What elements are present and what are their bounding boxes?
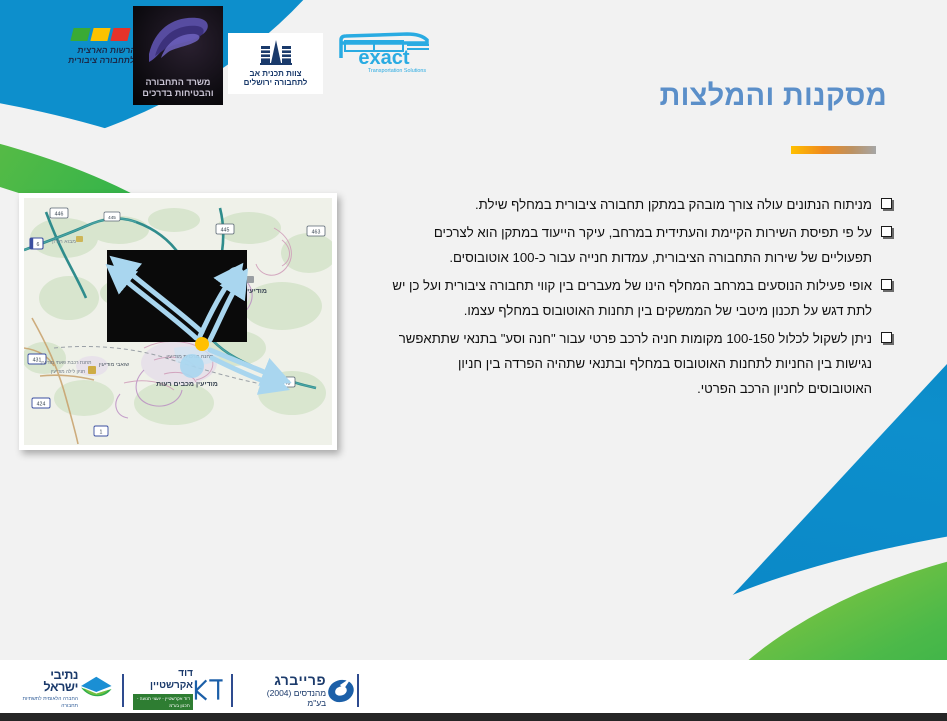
map-image: 446 6 445 463	[24, 198, 332, 445]
logo-jta-line2: לתחבורה ירושלים	[244, 78, 308, 88]
logo-david-ackerstein: דוד אקרשטיין דוד אקרשטיין - יועצי תנועה …	[133, 671, 228, 709]
tricolor-bars-icon	[72, 28, 129, 41]
ackerstein-line1: דוד אקרשטיין	[133, 668, 193, 692]
list-item: על פי תפיסת השירות הקיימת והעתידית במרחב…	[392, 220, 892, 270]
map-image-frame: 446 6 445 463	[19, 193, 337, 450]
logo-fryberg: פרייברג מהנדסים (2004) בע"מ	[246, 671, 361, 709]
svg-text:exact: exact	[358, 47, 409, 69]
bottom-strip	[0, 713, 947, 721]
logo-jerusalem-master-plan: צוות תכנית אב לתחבורה ירושלים	[228, 33, 323, 94]
bullet-text: על פי תפיסת השירות הקיימת והעתידית במרחב…	[392, 220, 872, 270]
bullet-text: אופי פעילות הנוסעים במרחב המחלף הינו של …	[392, 273, 872, 323]
netivei-line2: החברה הלאומית לתשתיות תחבורה	[22, 696, 78, 710]
logo-national-public-transport-authority: הרשות הארצית לתחבורה ציבורית	[30, 28, 135, 90]
square-bullet-icon	[881, 226, 892, 237]
bullet-text: ניתן לשקול לכלול 100-150 מקומות חניה לרכ…	[392, 326, 872, 401]
footer-divider	[231, 674, 233, 707]
logo-mot-line2: והבטיחות בדרכים	[142, 88, 213, 99]
title-accent-bar	[791, 146, 876, 154]
netivei-arrow-icon	[78, 671, 113, 707]
map-node-south	[180, 354, 204, 378]
ackerstein-kt-icon	[193, 673, 224, 707]
logo-jta-line1: צוות תכנית אב	[244, 69, 308, 79]
footer-divider	[122, 674, 124, 707]
map-node-interchange	[195, 337, 209, 351]
footer-divider	[357, 674, 359, 707]
square-bullet-icon	[881, 279, 892, 290]
logo-mot-line1: משרד התחבורה	[142, 77, 213, 88]
ackerstein-line2: דוד אקרשטיין - יועצי תנועה - תכנון בע"מ	[133, 694, 193, 710]
bullet-text: מניתוח הנתונים עולה צורך מובהק במתקן תחב…	[392, 192, 872, 217]
road-swoosh-icon	[145, 14, 211, 66]
slide-canvas: הרשות הארצית לתחבורה ציבורית משרד התחבור…	[0, 0, 947, 721]
fryberg-line1: פרייברג	[246, 673, 326, 688]
square-bullet-icon	[881, 198, 892, 209]
netivei-line1: נתיבי ישראל	[22, 669, 78, 694]
square-bullet-icon	[881, 332, 892, 343]
fryberg-emblem-icon	[326, 675, 356, 705]
page-title: מסקנות והמלצות	[659, 80, 887, 113]
logo-natl-line2: לתחבורה ציבורית	[67, 55, 135, 65]
list-item: מניתוח הנתונים עולה צורך מובהק במתקן תחב…	[392, 192, 892, 217]
exact-bus-icon: exact Transportation Solutions	[335, 28, 435, 76]
logo-ministry-of-transport: משרד התחבורה והבטיחות בדרכים	[133, 6, 223, 105]
fryberg-line2: מהנדסים (2004) בע"מ	[246, 688, 326, 708]
list-item: ניתן לשקול לכלול 100-150 מקומות חניה לרכ…	[392, 326, 892, 401]
map-flow-arrows-overlay	[24, 198, 332, 445]
map-node-north	[227, 267, 245, 285]
logo-natl-line1: הרשות הארצית	[69, 45, 137, 55]
logo-exact: exact Transportation Solutions	[335, 28, 435, 76]
bridge-tower-icon	[259, 40, 293, 66]
bullet-list: מניתוח הנתונים עולה צורך מובהק במתקן תחב…	[392, 192, 892, 404]
svg-text:Transportation Solutions: Transportation Solutions	[368, 68, 427, 74]
logo-netivei-israel: נתיבי ישראל החברה הלאומית לתשתיות תחבורה	[22, 669, 117, 709]
list-item: אופי פעילות הנוסעים במרחב המחלף הינו של …	[392, 273, 892, 323]
